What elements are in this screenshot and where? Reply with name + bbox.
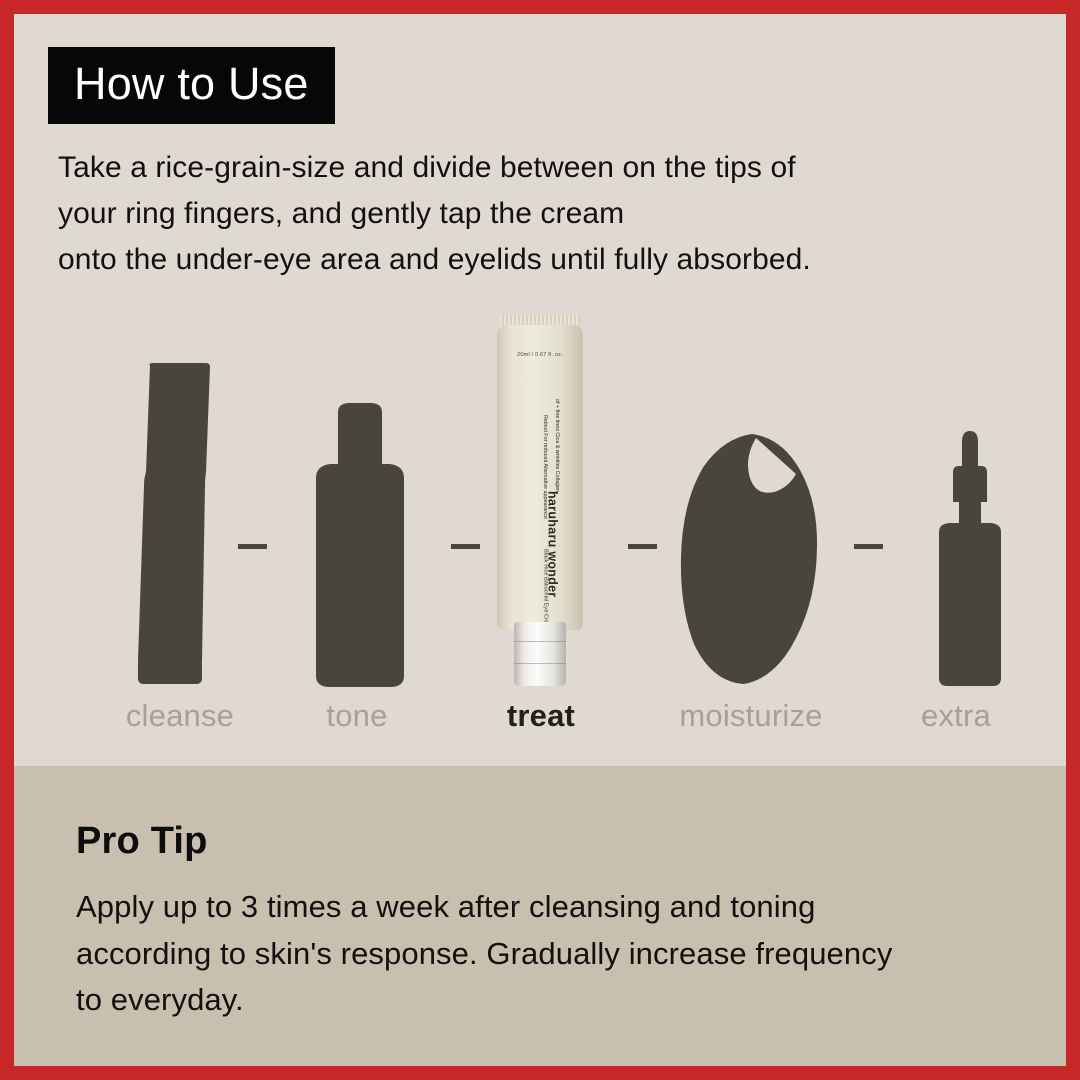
product-variant-name: Black Rice Bakuchiol Eye Cream: [541, 549, 549, 631]
product-volume-text: 20ml / 0.67 fl. oz.: [497, 352, 583, 358]
squeeze-tube-icon: [128, 360, 224, 690]
routine-step-cleanse[interactable]: [96, 330, 256, 690]
pro-tip-line: according to skin's response. Gradually …: [76, 931, 1006, 978]
instruction-line: your ring fingers, and gently tap the cr…: [58, 191, 958, 237]
haruharu-wonder-eye-cream-tube[interactable]: 20ml / 0.67 fl. oz. Retinol For reduced …: [497, 314, 583, 686]
section-title-badge: How to Use: [48, 47, 335, 124]
infographic-frame: How to Use Take a rice-grain-size and di…: [0, 0, 1080, 1080]
product-ingredients-text: of + fine lines Cica & wrinkles Collagen: [553, 399, 561, 492]
routine-step-moisturize[interactable]: [670, 330, 830, 690]
page-title: How to Use: [74, 58, 309, 109]
pro-tip-paragraph: Apply up to 3 times a week after cleansi…: [76, 884, 1006, 1024]
tube-body: 20ml / 0.67 fl. oz. Retinol For reduced …: [497, 325, 583, 630]
pro-tip-line: Apply up to 3 times a week after cleansi…: [76, 884, 1006, 931]
routine-labels-row: cleanse tone treat moisturize extra: [14, 698, 1066, 744]
instruction-line: Take a rice-grain-size and divide betwee…: [58, 145, 958, 191]
step-separator-dash: [628, 544, 657, 549]
instructions-paragraph: Take a rice-grain-size and divide betwee…: [58, 145, 958, 284]
tube-cap: [514, 622, 566, 686]
step-separator-dash: [854, 544, 883, 549]
pro-tip-title: Pro Tip: [76, 820, 208, 863]
cream-jar-icon: [678, 430, 822, 690]
step-separator-dash: [238, 544, 267, 549]
instruction-line: onto the under-eye area and eyelids unti…: [58, 237, 958, 283]
routine-step-extra[interactable]: [890, 330, 1050, 690]
routine-label-extra[interactable]: extra: [841, 698, 1071, 734]
routine-label-treat[interactable]: treat: [426, 698, 656, 734]
toner-bottle-icon: [304, 400, 416, 690]
routine-step-tone[interactable]: [280, 330, 440, 690]
serum-dropper-icon: [923, 428, 1017, 690]
pro-tip-line: to everyday.: [76, 977, 1006, 1024]
routine-label-moisturize[interactable]: moisturize: [636, 698, 866, 734]
